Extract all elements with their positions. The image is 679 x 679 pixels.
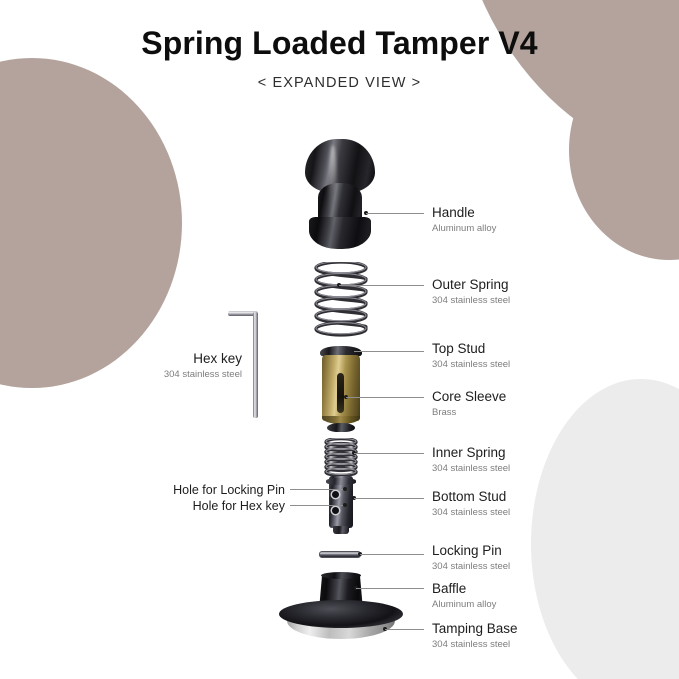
leader-dot-hole-hex-key [343,503,347,507]
label-hex-key-name: Hex key [100,351,242,367]
core-sleeve-slot [337,373,344,413]
leader-line-core-sleeve [346,397,424,398]
label-inner-spring: Inner Spring 304 stainless steel [432,445,510,474]
part-locking-pin [319,551,361,558]
tamping-base-disc [279,600,403,628]
part-handle [305,139,375,253]
baffle-top [321,572,361,579]
label-baffle-material: Aluminum alloy [432,599,496,610]
label-hole-for-hex-key: Hole for Hex key [60,499,285,513]
handle-flare [309,217,371,249]
label-bottom-stud-name: Bottom Stud [432,489,510,505]
leader-line-baffle [356,588,424,589]
parts-stage [0,0,679,679]
label-outer-spring: Outer Spring 304 stainless steel [432,277,510,306]
leader-line-locking-pin [360,554,424,555]
label-handle-name: Handle [432,205,496,221]
label-core-sleeve-name: Core Sleeve [432,389,506,405]
hole-for-locking-pin [332,491,339,498]
label-handle-material: Aluminum alloy [432,223,496,234]
label-locking-pin-material: 304 stainless steel [432,561,510,572]
leader-line-handle [366,213,424,214]
label-bottom-stud: Bottom Stud 304 stainless steel [432,489,510,518]
label-hex-key: Hex key 304 stainless steel [100,351,242,380]
page-subtitle: < EXPANDED VIEW > [0,75,679,91]
label-locking-pin: Locking Pin 304 stainless steel [432,543,510,572]
leader-line-outer-spring [339,285,424,286]
leader-line-inner-spring [354,453,424,454]
hole-for-hex-key [332,507,339,514]
hex-key-shaft [253,312,258,418]
label-inner-spring-name: Inner Spring [432,445,510,461]
label-locking-pin-name: Locking Pin [432,543,510,559]
bottom-stud-tip [333,526,349,534]
part-core-assembly [318,346,364,432]
bottom-stud-collar [326,478,356,485]
label-baffle: Baffle Aluminum alloy [432,581,496,610]
leader-line-hole-locking-pin [290,489,345,490]
label-tamping-base: Tamping Base 304 stainless steel [432,621,518,650]
label-hex-key-material: 304 stainless steel [100,369,242,380]
label-top-stud: Top Stud 304 stainless steel [432,341,510,370]
core-sleeve-base-cap [327,423,355,432]
label-tamping-base-material: 304 stainless steel [432,639,518,650]
label-top-stud-material: 304 stainless steel [432,359,510,370]
leader-line-top-stud [354,351,424,352]
leader-line-bottom-stud [354,498,424,499]
label-handle: Handle Aluminum alloy [432,205,496,234]
part-tamping-base [279,600,403,644]
leader-dot-hole-locking-pin [343,487,347,491]
page-title: Spring Loaded Tamper V4 [0,26,679,61]
part-bottom-stud [329,476,353,528]
exploded-view-diagram: Spring Loaded Tamper V4 < EXPANDED VIEW … [0,0,679,679]
label-outer-spring-name: Outer Spring [432,277,510,293]
part-inner-spring [322,438,360,478]
label-outer-spring-material: 304 stainless steel [432,295,510,306]
label-core-sleeve-material: Brass [432,407,506,418]
label-bottom-stud-material: 304 stainless steel [432,507,510,518]
leader-line-tamping-base [385,629,424,630]
label-inner-spring-material: 304 stainless steel [432,463,510,474]
label-hole-for-locking-pin: Hole for Locking Pin [60,483,285,497]
header: Spring Loaded Tamper V4 < EXPANDED VIEW … [0,26,679,91]
part-outer-spring [312,262,370,338]
label-baffle-name: Baffle [432,581,496,597]
leader-line-hole-hex-key [290,505,345,506]
label-top-stud-name: Top Stud [432,341,510,357]
part-core-sleeve [322,355,360,421]
label-core-sleeve: Core Sleeve Brass [432,389,506,418]
label-tamping-base-name: Tamping Base [432,621,518,637]
handle-highlight [329,145,337,233]
